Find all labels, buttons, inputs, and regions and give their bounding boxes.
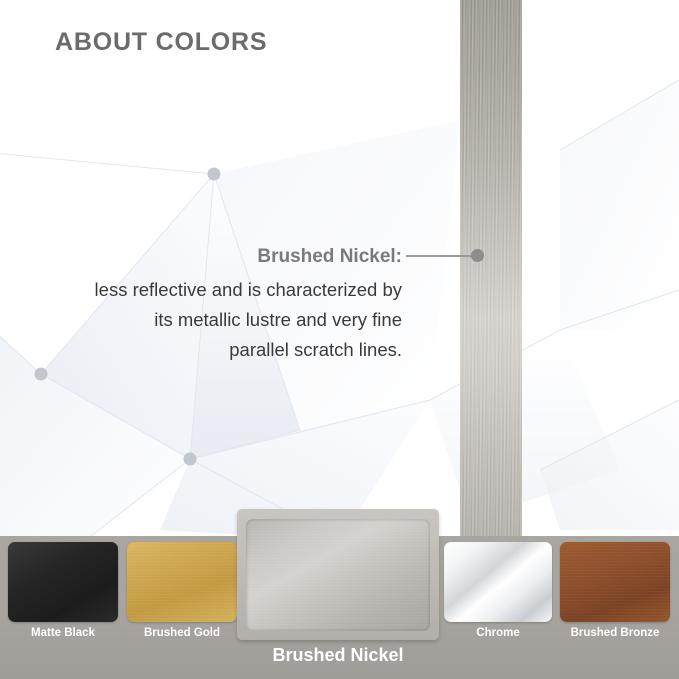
poly-node-dot-1 — [208, 168, 221, 181]
swatch-chip-chrome[interactable] — [444, 542, 552, 622]
swatch-label-brushed-gold: Brushed Gold — [127, 627, 237, 639]
poly-node-dot-2 — [35, 368, 48, 381]
swatch-brushed-nickel-selected[interactable] — [237, 509, 439, 640]
swatch-brushed-bronze[interactable]: Brushed Bronze — [560, 542, 670, 639]
callout-line-2: its metallic lustre and very fine — [20, 305, 402, 335]
pointer-dot-icon — [471, 249, 484, 262]
swatch-chip-matte-black[interactable] — [8, 542, 118, 622]
callout-line-3: parallel scratch lines. — [20, 335, 402, 365]
swatch-label-brushed-nickel: Brushed Nickel — [237, 645, 439, 666]
callout-term: Brushed Nickel: — [20, 243, 402, 271]
swatch-chip-brushed-bronze[interactable] — [560, 542, 670, 622]
callout-line-1: less reflective and is characterized by — [20, 275, 402, 305]
about-colors-infographic: ABOUT COLORS Brushed Nickel: less reflec… — [0, 0, 679, 679]
swatch-chip-brushed-gold[interactable] — [127, 542, 237, 622]
poly-node-dot-3 — [184, 453, 197, 466]
callout-body: less reflective and is characterized by … — [20, 275, 402, 365]
swatch-brushed-gold[interactable]: Brushed Gold — [127, 542, 237, 639]
swatch-matte-black[interactable]: Matte Black — [8, 542, 118, 639]
swatch-chrome[interactable]: Chrome — [444, 542, 552, 639]
leader-line — [406, 255, 474, 257]
swatch-label-chrome: Chrome — [444, 627, 552, 639]
page-title: ABOUT COLORS — [55, 28, 267, 57]
swatch-chip-brushed-nickel[interactable] — [246, 519, 430, 631]
brushed-nickel-sample-strip — [460, 0, 522, 536]
callout-text-block: Brushed Nickel: less reflective and is c… — [20, 243, 402, 365]
swatch-label-brushed-bronze: Brushed Bronze — [560, 627, 670, 639]
swatch-label-matte-black: Matte Black — [8, 627, 118, 639]
